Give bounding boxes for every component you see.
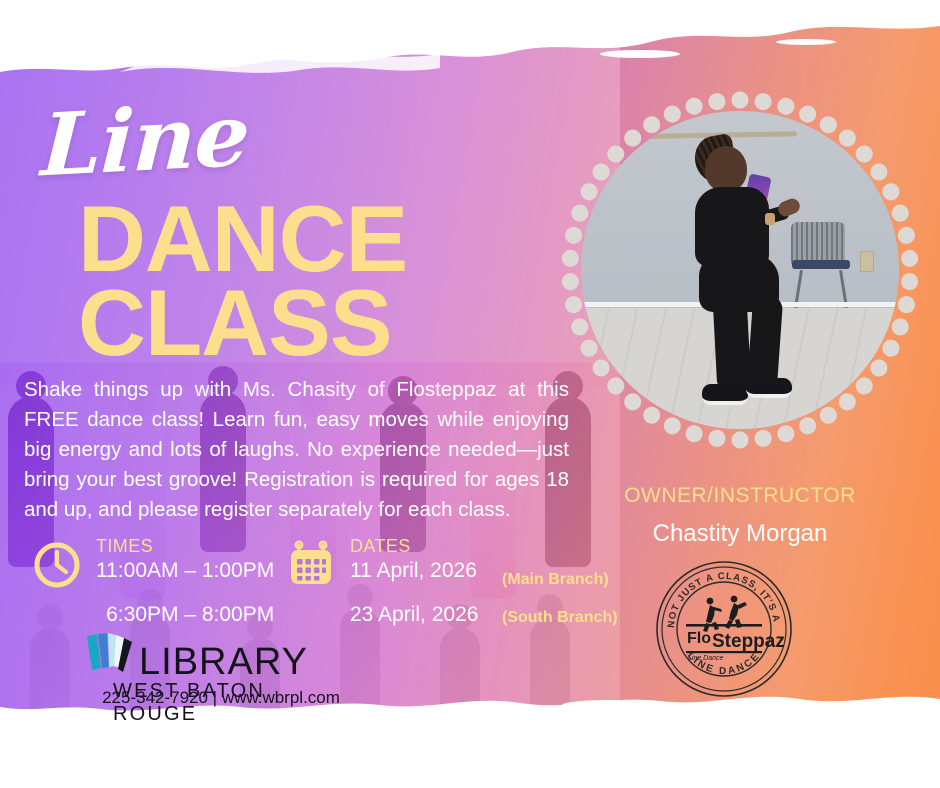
- clock-icon: [32, 540, 82, 590]
- stamp-brand-flo: Flo: [687, 630, 711, 647]
- page-title: DANCE CLASS: [78, 196, 407, 367]
- times-slot-1: 11:00AM – 1:00PM: [96, 559, 274, 583]
- times-slot-2: 6:30PM – 8:00PM: [96, 603, 274, 627]
- title-class: CLASS: [78, 280, 407, 366]
- instructor-name: Chastity Morgan: [555, 520, 925, 548]
- calendar-icon: [286, 540, 336, 590]
- times-heading: TIMES: [96, 536, 274, 558]
- library-logo-block: LIBRARY WEST BATON ROUGE 225-342-7920 | …: [85, 632, 355, 726]
- photo-circle-image: [581, 111, 899, 429]
- flosteppaz-stamp-logo: •IT'S NOT JUST A CLASS, IT'S A VIBE• LIN…: [654, 559, 794, 699]
- instructor-heading: OWNER/INSTRUCTOR: [555, 484, 925, 508]
- instructor-photo: [555, 85, 925, 455]
- dates-block: DATES 11 April, 2026 23 April, 2026: [286, 536, 478, 627]
- stamp-brand-steppaz: Steppaz: [712, 631, 785, 652]
- body-description: Shake things up with Ms. Chasity of Flos…: [24, 375, 569, 525]
- times-block: TIMES 11:00AM – 1:00PM 6:30PM – 8:00PM: [32, 536, 274, 627]
- dates-date-2: 23 April, 2026: [350, 603, 478, 627]
- dates-date-1: 11 April, 2026: [350, 559, 478, 583]
- branch-label-main: (Main Branch): [502, 571, 609, 589]
- title-script-line: Line: [39, 93, 251, 190]
- branch-label-south: (South Branch): [502, 609, 618, 627]
- library-wordmark: LIBRARY: [139, 645, 308, 679]
- dates-heading: DATES: [350, 536, 478, 558]
- library-contact: 225-342-7920 | www.wbrpl.com: [43, 688, 399, 708]
- stamp-brand-sub: Line Dance: [688, 655, 724, 662]
- flyer-canvas: Line DANCE CLASS Shake things up with Ms…: [0, 0, 940, 788]
- wbr-library-w-logo-icon: [85, 632, 137, 679]
